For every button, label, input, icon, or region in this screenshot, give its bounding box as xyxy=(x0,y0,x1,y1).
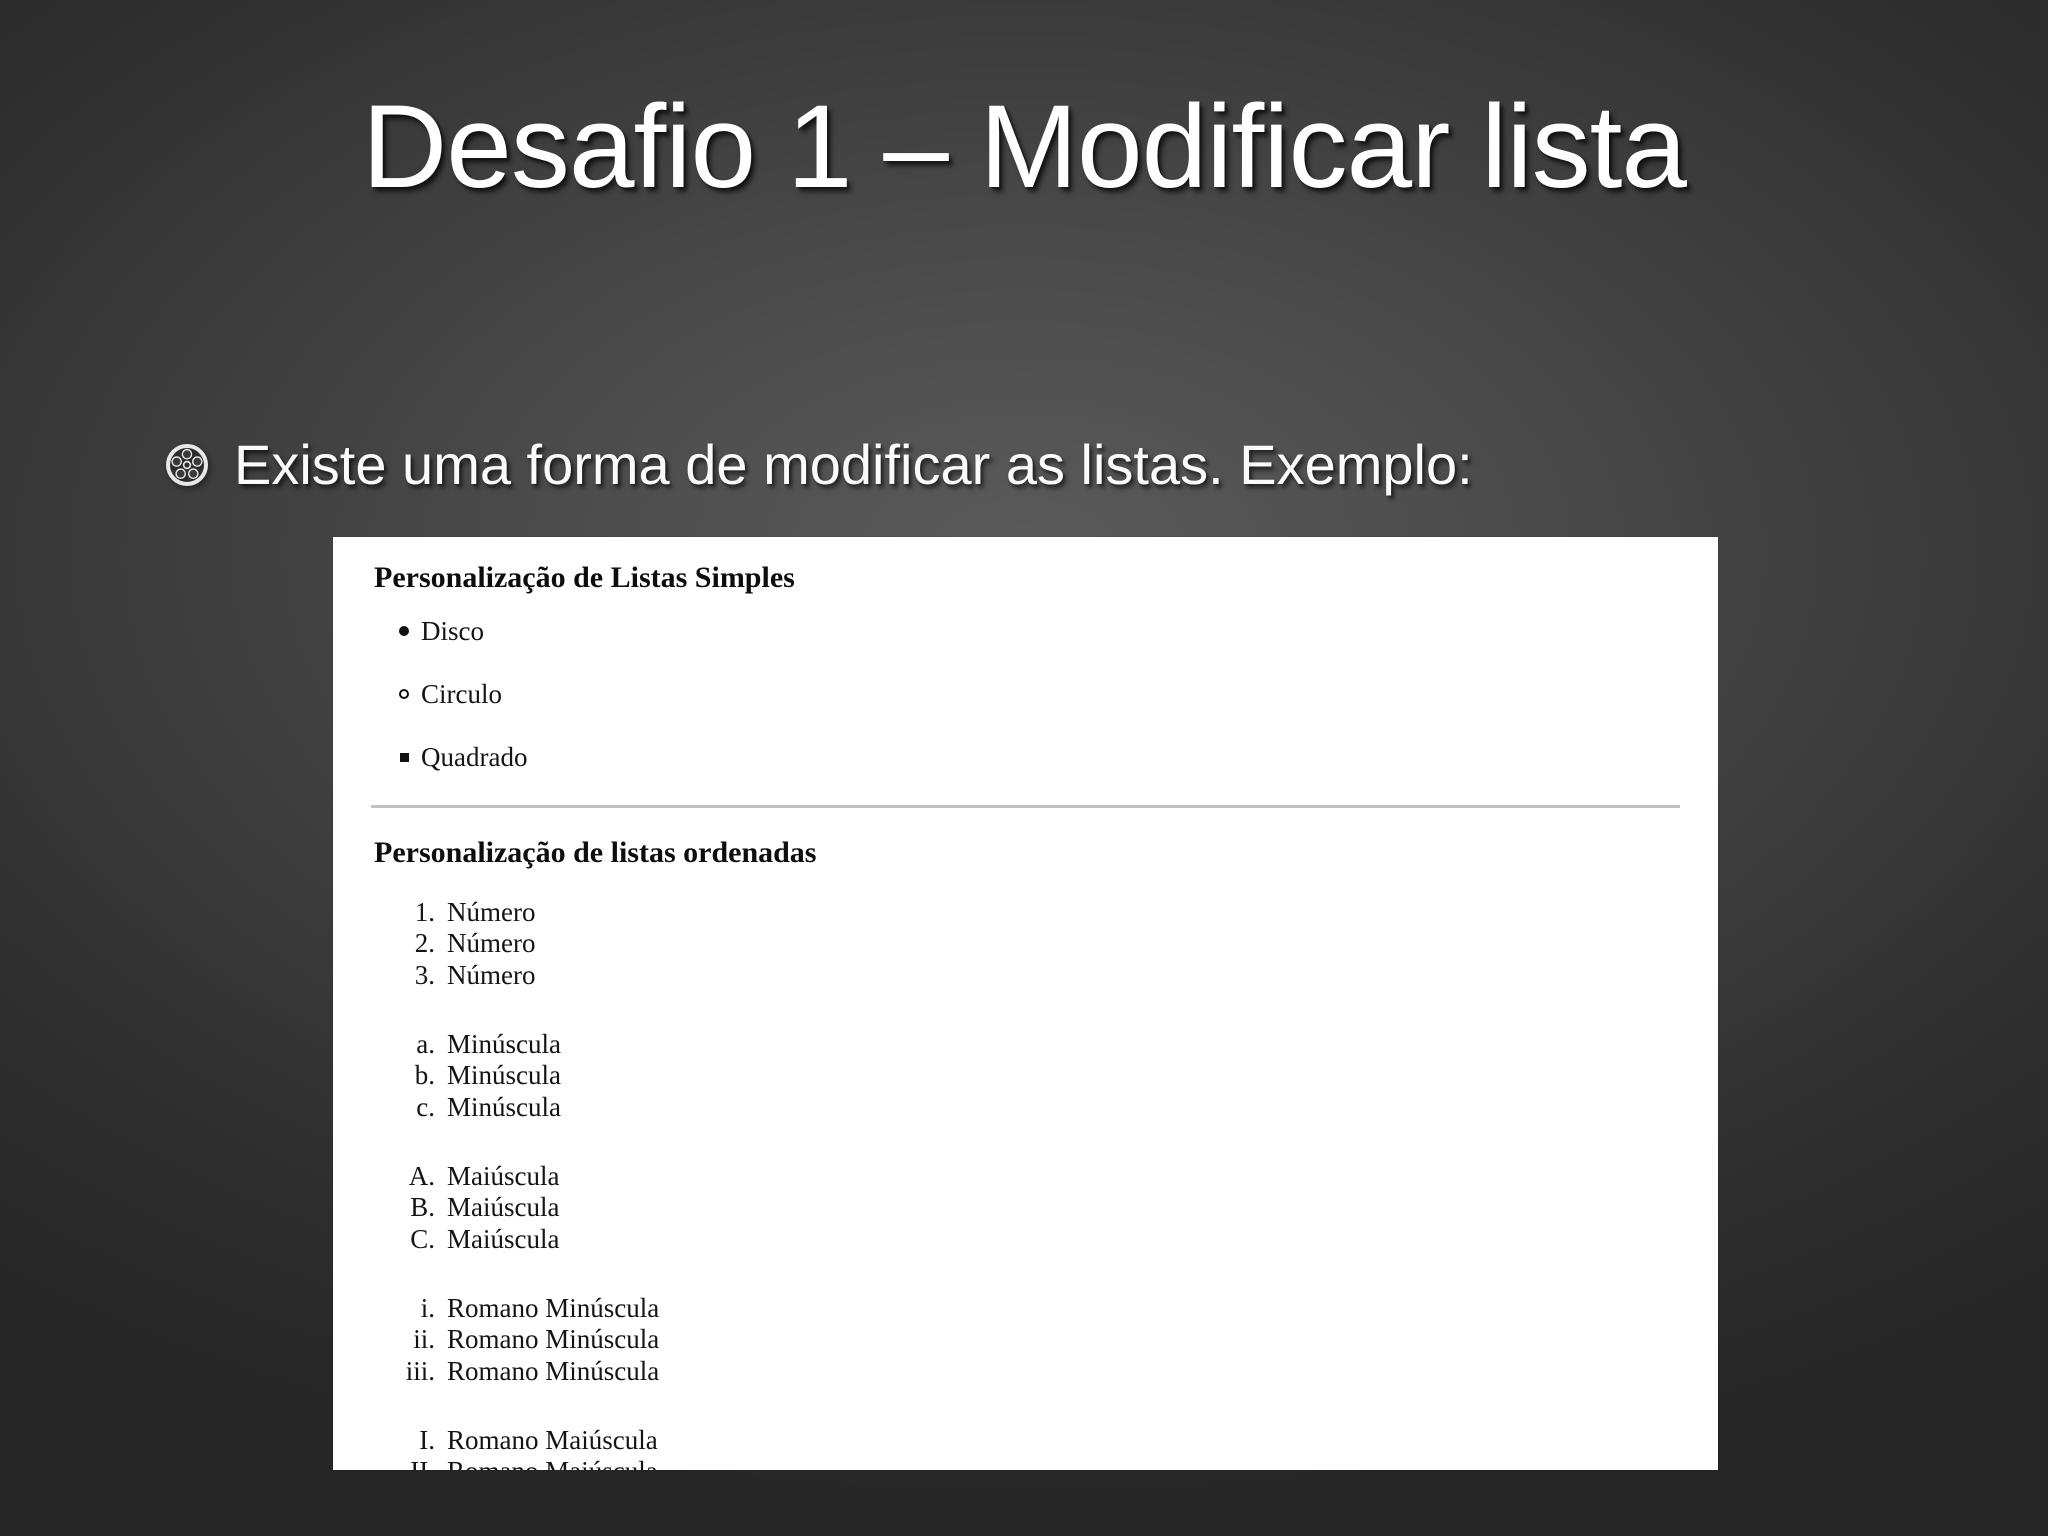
list-item-label: Romano Maiúscula xyxy=(447,1456,658,1470)
list-marker: C. xyxy=(359,1224,447,1255)
list-item: 3. Número xyxy=(359,960,1692,991)
list-item-label: Quadrado xyxy=(421,742,527,772)
list-item: C. Maiúscula xyxy=(359,1224,1692,1255)
example-screenshot-panel: Personalização de Listas Simples Disco C… xyxy=(333,537,1718,1470)
list-marker: iii. xyxy=(359,1356,447,1387)
list-marker: ii. xyxy=(359,1324,447,1355)
page-title: Desafio 1 – Modificar lista xyxy=(0,88,2048,206)
list-item-label: Número xyxy=(447,960,535,991)
list-marker: A. xyxy=(359,1161,447,1192)
ordered-group-decimal: 1. Número 2. Número 3. Número xyxy=(359,897,1692,991)
list-item: B. Maiúscula xyxy=(359,1192,1692,1223)
list-item-label: Número xyxy=(447,928,535,959)
list-item-label: Romano Maiúscula xyxy=(447,1425,658,1456)
list-marker: I. xyxy=(359,1425,447,1456)
list-marker: II. xyxy=(359,1456,447,1470)
list-marker: a. xyxy=(359,1029,447,1060)
list-item-label: Maiúscula xyxy=(447,1192,559,1223)
list-item: b. Minúscula xyxy=(359,1060,1692,1091)
ordered-group-lower-alpha: a. Minúscula b. Minúscula c. Minúscula xyxy=(359,1029,1692,1123)
list-item: i. Romano Minúscula xyxy=(359,1293,1692,1324)
list-item-label: Maiúscula xyxy=(447,1161,559,1192)
list-item-label: Minúscula xyxy=(447,1029,561,1060)
list-marker: B. xyxy=(359,1192,447,1223)
list-item: 1. Número xyxy=(359,897,1692,928)
circle-bullet-icon xyxy=(395,678,413,710)
list-item-label: Romano Minúscula xyxy=(447,1293,659,1324)
list-item-label: Minúscula xyxy=(447,1060,561,1091)
list-item: I. Romano Maiúscula xyxy=(359,1425,1692,1456)
list-item: Disco xyxy=(359,615,1692,647)
disc-bullet-icon xyxy=(395,615,413,647)
list-item-label: Romano Minúscula xyxy=(447,1324,659,1355)
list-item: a. Minúscula xyxy=(359,1029,1692,1060)
list-item-label: Minúscula xyxy=(447,1092,561,1123)
list-item: 2. Número xyxy=(359,928,1692,959)
list-item: II. Romano Maiúscula xyxy=(359,1456,1692,1470)
list-item: ii. Romano Minúscula xyxy=(359,1324,1692,1355)
ordered-group-upper-roman: I. Romano Maiúscula II. Romano Maiúscula… xyxy=(359,1425,1692,1470)
list-marker: b. xyxy=(359,1060,447,1091)
ordered-list-heading: Personalização de listas ordenadas xyxy=(374,834,1692,872)
list-item-label: Circulo xyxy=(421,679,502,709)
list-item: A. Maiúscula xyxy=(359,1161,1692,1192)
ordered-list-groups: 1. Número 2. Número 3. Número a. Minúscu… xyxy=(359,897,1692,1470)
simple-list-heading: Personalização de Listas Simples xyxy=(374,559,1692,597)
list-item: c. Minúscula xyxy=(359,1092,1692,1123)
list-marker: 2. xyxy=(359,928,447,959)
bullet-row: Existe uma forma de modificar as listas.… xyxy=(166,437,1473,493)
list-marker: 1. xyxy=(359,897,447,928)
list-item: iii. Romano Minúscula xyxy=(359,1356,1692,1387)
list-item: Circulo xyxy=(359,678,1692,710)
film-reel-icon xyxy=(166,444,208,486)
list-item-label: Romano Minúscula xyxy=(447,1356,659,1387)
ordered-group-lower-roman: i. Romano Minúscula ii. Romano Minúscula… xyxy=(359,1293,1692,1387)
section-divider xyxy=(371,805,1680,808)
list-marker: i. xyxy=(359,1293,447,1324)
list-item-label: Número xyxy=(447,897,535,928)
square-bullet-icon xyxy=(395,741,413,773)
list-item: Quadrado xyxy=(359,741,1692,773)
list-item-label: Maiúscula xyxy=(447,1224,559,1255)
bullet-text: Existe uma forma de modificar as listas.… xyxy=(234,437,1473,493)
simple-list: Disco Circulo Quadrado xyxy=(359,615,1692,774)
ordered-group-upper-alpha: A. Maiúscula B. Maiúscula C. Maiúscula xyxy=(359,1161,1692,1255)
list-marker: 3. xyxy=(359,960,447,991)
list-marker: c. xyxy=(359,1092,447,1123)
list-item-label: Disco xyxy=(421,616,484,646)
